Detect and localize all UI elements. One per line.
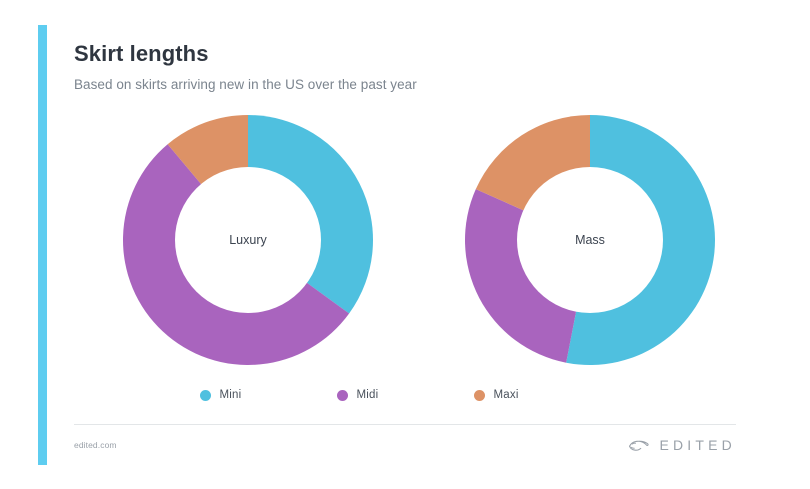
donut-chart-mass: Mass xyxy=(460,110,720,370)
donut-charts-area: Luxury Mass xyxy=(0,110,810,375)
circle-dot-icon xyxy=(200,390,211,401)
legend-item-mini[interactable]: Mini xyxy=(200,389,337,401)
footer-divider xyxy=(74,424,736,425)
footer-url[interactable]: edited.com xyxy=(74,440,117,450)
circle-dot-icon xyxy=(474,390,485,401)
donut-svg-luxury: Luxury xyxy=(118,110,378,370)
page-title: Skirt lengths xyxy=(74,40,714,68)
edited-bear-logo-icon xyxy=(628,438,652,452)
donut-svg-mass: Mass xyxy=(460,110,720,370)
brand-logo: EDITED xyxy=(628,437,736,453)
legend-label-mini: Mini xyxy=(220,389,242,401)
slide-canvas: Skirt lengths Based on skirts arriving n… xyxy=(0,0,810,489)
donut-center-label-luxury: Luxury xyxy=(229,233,267,247)
slide-footer: edited.com EDITED xyxy=(74,433,736,457)
donut-chart-luxury: Luxury xyxy=(118,110,378,370)
page-subtitle: Based on skirts arriving new in the US o… xyxy=(74,76,714,94)
brand-name: EDITED xyxy=(659,437,736,453)
legend-item-midi[interactable]: Midi xyxy=(337,389,474,401)
donut-center-label-mass: Mass xyxy=(575,233,605,247)
circle-dot-icon xyxy=(337,390,348,401)
legend-label-maxi: Maxi xyxy=(494,389,519,401)
chart-legend: Mini Midi Maxi xyxy=(0,389,810,401)
legend-item-maxi[interactable]: Maxi xyxy=(474,389,611,401)
slide-header: Skirt lengths Based on skirts arriving n… xyxy=(74,40,714,93)
legend-label-midi: Midi xyxy=(357,389,379,401)
